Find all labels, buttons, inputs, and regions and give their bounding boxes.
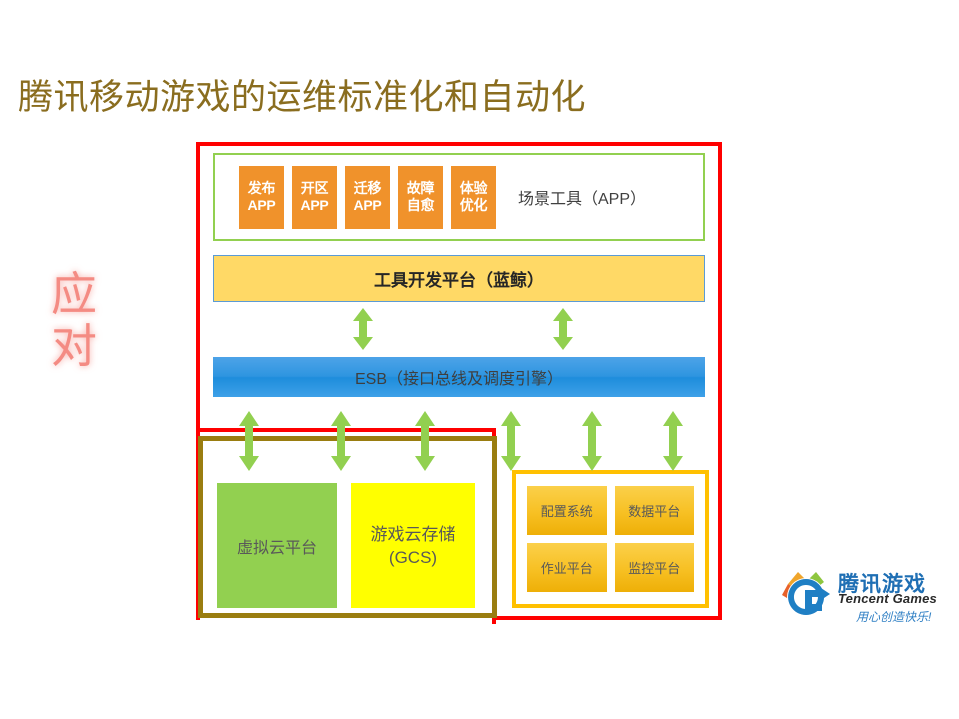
- app-tile-open-zone-line1: 开区: [301, 180, 328, 197]
- double-arrow-esb-down-3: [414, 410, 436, 472]
- app-tile-experience-optimization[interactable]: 体验 优化: [451, 166, 496, 229]
- page-title: 腾讯移动游戏的运维标准化和自动化: [18, 76, 586, 120]
- app-tile-publish-line1: 发布: [248, 180, 275, 197]
- base-platform-group: 配置系统 数据平台 作业平台 监控平台: [512, 470, 709, 608]
- scene-tools-group: 发布 APP 开区 APP 迁移 APP 故障 自愈 体验 优化 场景工具（AP…: [213, 153, 705, 241]
- app-tile-open-zone[interactable]: 开区 APP: [292, 166, 337, 229]
- platform-tile-config-system[interactable]: 配置系统: [527, 486, 607, 535]
- double-arrow-esb-down-5: [581, 410, 603, 472]
- game-cloud-storage-box[interactable]: 游戏云存储 (GCS): [351, 483, 475, 608]
- logo-slogan: 用心创造快乐!: [856, 608, 931, 625]
- app-tile-migration-line1: 迁移: [354, 180, 381, 197]
- app-tile-experience-optimization-line1: 体验: [460, 180, 487, 197]
- app-tile-fault-self-healing-line2: 自愈: [407, 197, 434, 214]
- double-arrow-tool-to-esb-2: [552, 307, 574, 351]
- app-tile-publish-line2: APP: [248, 197, 276, 214]
- double-arrow-esb-down-4: [500, 410, 522, 472]
- double-arrow-esb-down-2: [330, 410, 352, 472]
- app-tile-experience-optimization-line2: 优化: [460, 197, 487, 214]
- response-label-line2: 对: [44, 320, 104, 372]
- platform-tile-data-platform[interactable]: 数据平台: [615, 486, 695, 535]
- app-tile-publish[interactable]: 发布 APP: [239, 166, 284, 229]
- response-label-line1: 应: [44, 268, 104, 320]
- platform-tile-job-platform[interactable]: 作业平台: [527, 543, 607, 592]
- esb-bar[interactable]: ESB（接口总线及调度引擎）: [213, 357, 705, 397]
- app-tile-migration[interactable]: 迁移 APP: [345, 166, 390, 229]
- scene-tools-label: 场景工具（APP）: [518, 185, 646, 209]
- double-arrow-tool-to-esb-1: [352, 307, 374, 351]
- double-arrow-esb-down-6: [662, 410, 684, 472]
- tencent-penguin-icon: [778, 568, 834, 622]
- app-tile-migration-line2: APP: [354, 197, 382, 214]
- virtual-cloud-platform-box[interactable]: 虚拟云平台: [217, 483, 337, 608]
- platform-tile-monitor-platform[interactable]: 监控平台: [615, 543, 695, 592]
- response-label: 应 对: [44, 268, 104, 372]
- app-tile-fault-self-healing[interactable]: 故障 自愈: [398, 166, 443, 229]
- gcs-line1: 游戏云存储: [371, 523, 456, 546]
- tool-development-platform-bar[interactable]: 工具开发平台（蓝鲸）: [213, 255, 705, 302]
- app-tile-fault-self-healing-line1: 故障: [407, 180, 434, 197]
- logo-english-name: Tencent Games: [838, 591, 937, 606]
- tencent-games-logo: 腾讯游戏 Tencent Games 用心创造快乐!: [778, 566, 950, 630]
- gcs-line2: (GCS): [371, 546, 456, 569]
- app-tile-open-zone-line2: APP: [301, 197, 329, 214]
- double-arrow-esb-down-1: [238, 410, 260, 472]
